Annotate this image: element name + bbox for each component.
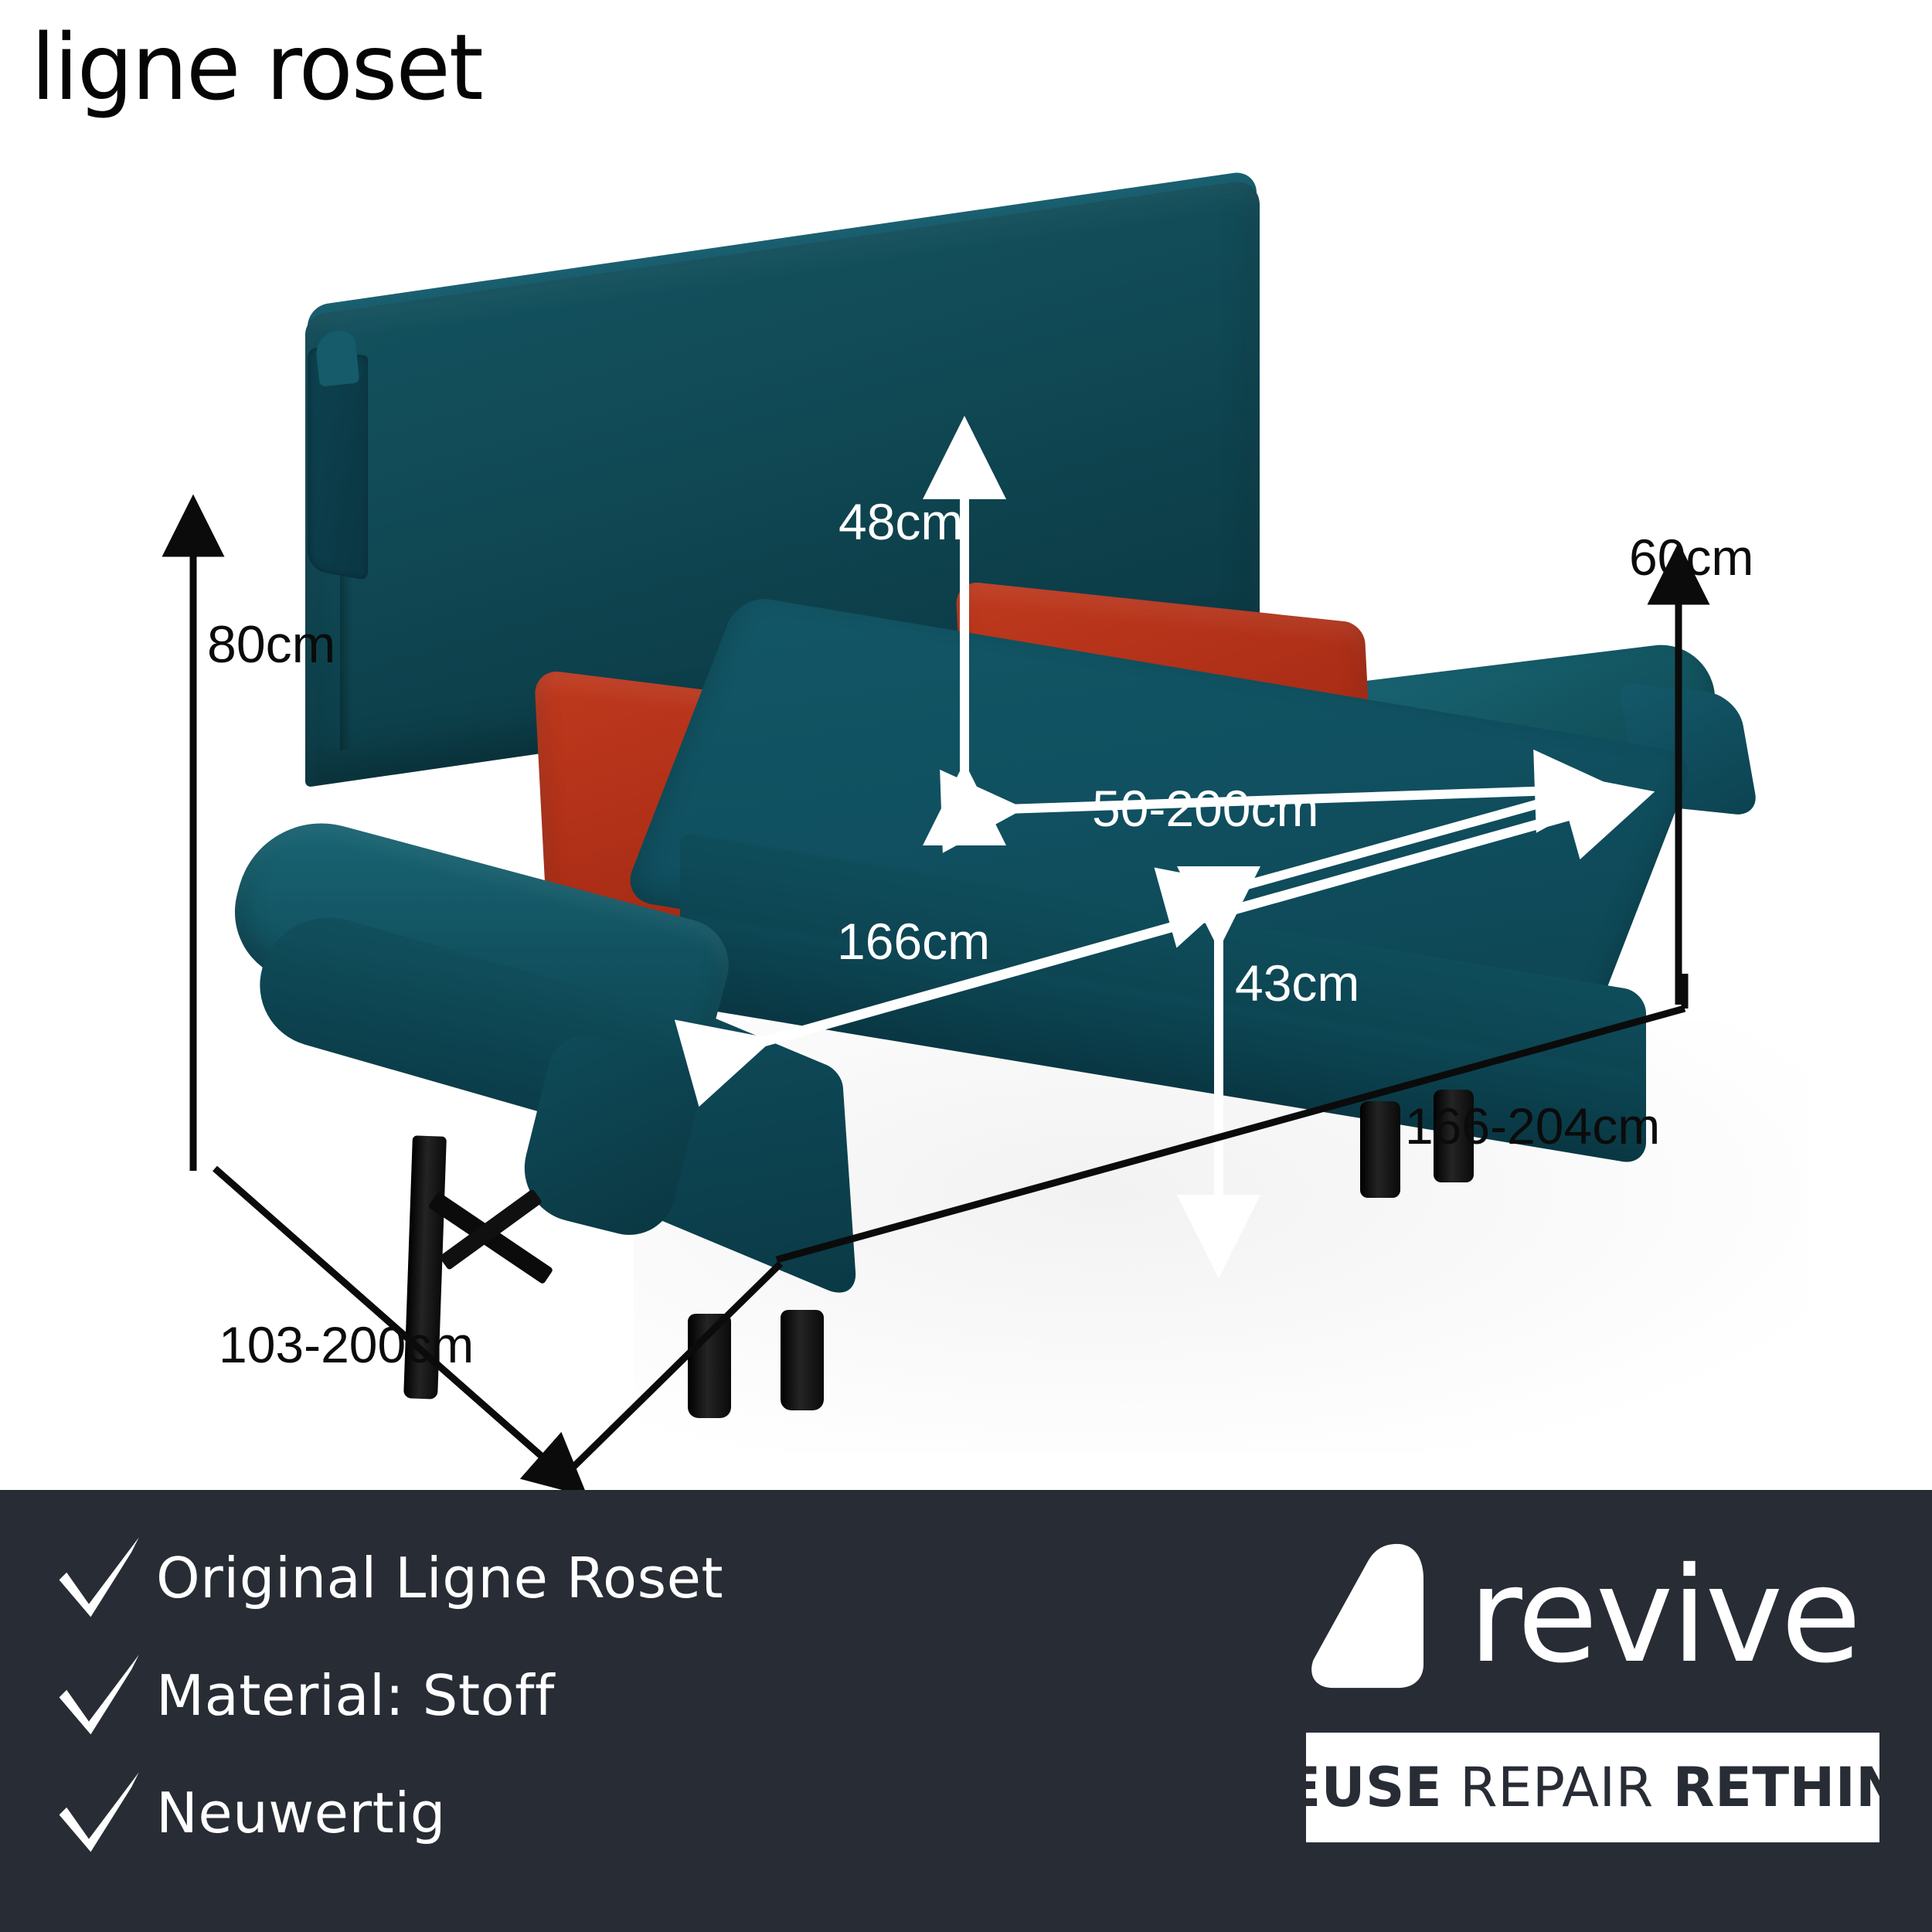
feature-item: Neuwertig [40,1754,952,1872]
sofa-leg-front-center [688,1314,731,1418]
brand-logo: ligne roset [31,22,482,113]
tagline-repair: REPAIR [1442,1756,1654,1819]
info-banner: Original Ligne Roset Material: Stoff Neu… [0,1490,1932,1932]
product-image-canvas: ligne roset [0,0,1932,1932]
feature-label: Neuwertig [156,1781,446,1845]
product-photo [0,124,1932,1492]
revive-tagline-text: REUSE REPAIR RETHINK [1242,1756,1932,1819]
revive-tagline: REUSE REPAIR RETHINK [1306,1733,1879,1842]
sofa-leg-back-right [1360,1101,1400,1198]
feature-item: Original Ligne Roset [40,1519,952,1637]
revive-leaf-icon [1306,1535,1461,1697]
feature-item: Material: Stoff [40,1637,952,1754]
feature-list: Original Ligne Roset Material: Stoff Neu… [40,1519,952,1872]
dim-label-back-cushion: 48cm [838,496,963,547]
revive-logo: revive REUSE REPAIR RETHINK [1306,1519,1893,1842]
feature-label: Material: Stoff [156,1663,555,1728]
dim-label-seat-height: 43cm [1235,957,1359,1009]
sofa-illustration [0,124,1932,1492]
check-icon [40,1649,156,1742]
check-icon [40,1532,156,1624]
dim-label-total-depth: 103-200cm [219,1319,474,1370]
dim-label-seat-width: 166cm [837,916,990,967]
feature-label: Original Ligne Roset [156,1546,723,1611]
tagline-rethink: RETHINK [1654,1756,1932,1819]
tagline-reuse: REUSE [1242,1756,1442,1819]
dim-label-armrest-height: 60cm [1629,532,1753,583]
revive-wordmark: revive [1468,1550,1859,1682]
dim-label-seat-depth: 50-200cm [1092,783,1319,834]
dim-label-total-width: 166-204cm [1405,1100,1660,1151]
dim-label-backrest-height: 80cm [207,618,335,671]
revive-logo-top: revive [1306,1519,1893,1713]
sofa-leg-front-center2 [781,1310,824,1410]
check-icon [40,1767,156,1859]
